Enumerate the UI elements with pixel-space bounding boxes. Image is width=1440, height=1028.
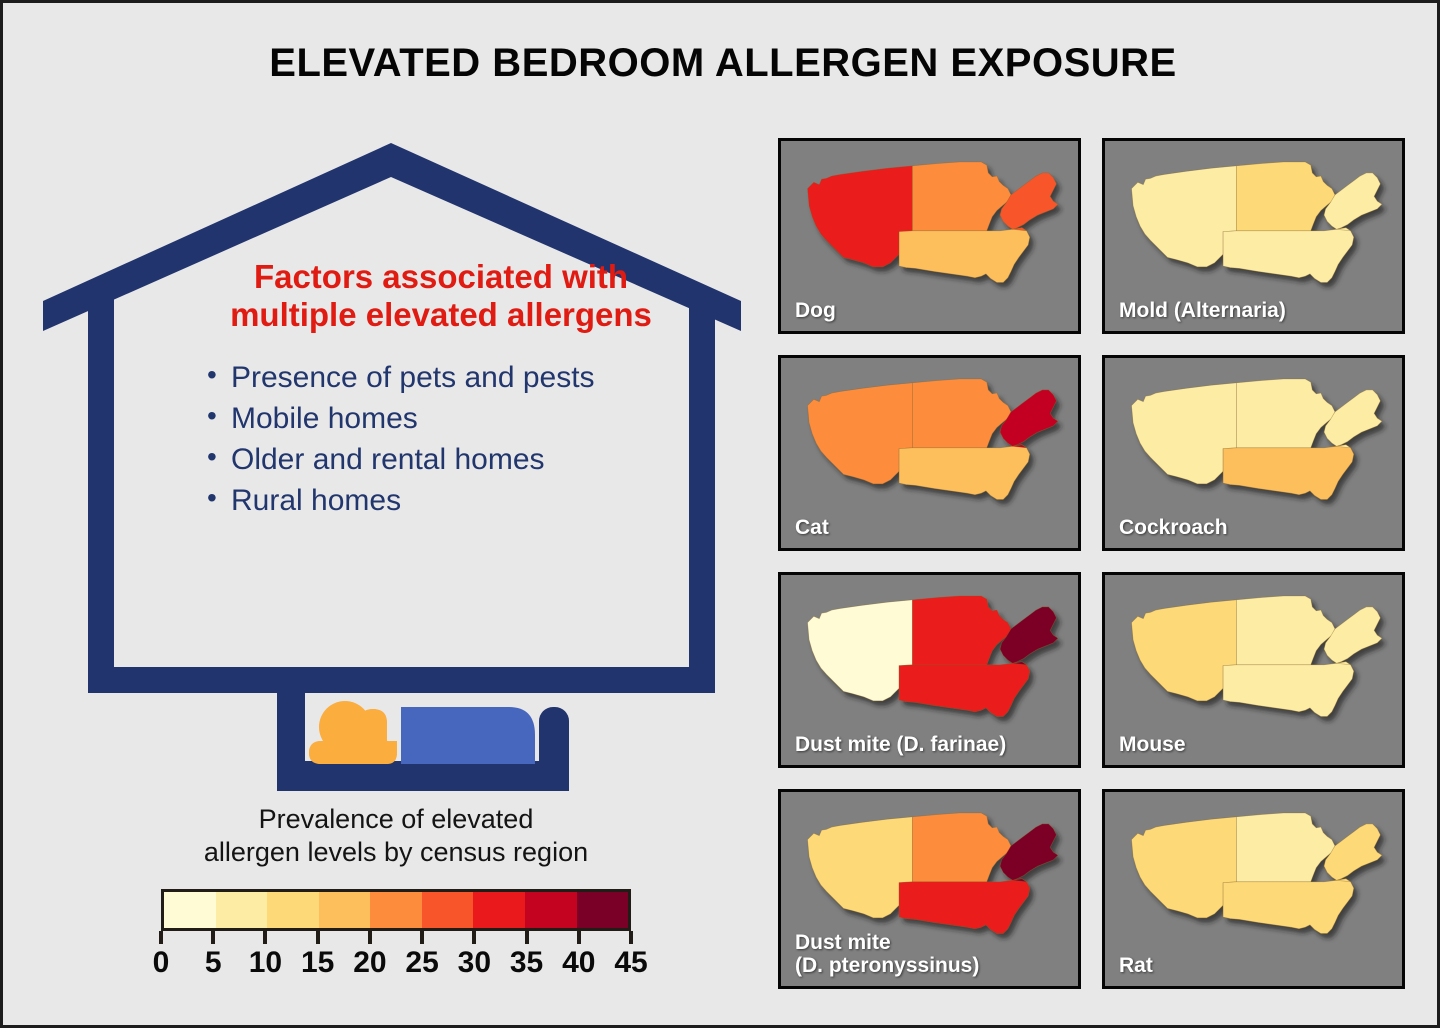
map-region-northeast: [1324, 824, 1382, 882]
legend-tick-label: 40: [562, 946, 595, 980]
map-region-midwest: [1236, 162, 1335, 231]
legend-swatch-2: [267, 892, 319, 928]
map-region-northeast: [1000, 173, 1058, 231]
map-panel: Mouse: [1102, 572, 1405, 768]
legend-caption-line2: allergen levels by census region: [111, 836, 681, 869]
legend-tick-label: 15: [301, 946, 334, 980]
map-panel-label: Dust mite (D. pteronyssinus): [795, 931, 979, 977]
map-region-west: [1131, 383, 1236, 484]
map-panel: Dust mite (D. pteronyssinus): [778, 789, 1081, 989]
legend-ticks: [161, 931, 631, 944]
map-region-south: [899, 228, 1030, 283]
map-region-northeast: [1000, 607, 1058, 665]
legend-swatch-1: [216, 892, 268, 928]
legend-tick: [211, 931, 215, 944]
legend-swatch-3: [319, 892, 371, 928]
legend-tick-label: 10: [249, 946, 282, 980]
map-region-northeast: [1324, 390, 1382, 448]
map-region-south: [1223, 879, 1354, 934]
map-panel-label: Dog: [795, 299, 836, 322]
factor-item: Rural homes: [207, 480, 701, 521]
legend-colorbar: [161, 889, 631, 931]
infographic-poster: ELEVATED BEDROOM ALLERGEN EXPOSURE Facto…: [0, 0, 1440, 1028]
legend-swatch-7: [525, 892, 577, 928]
map-region-midwest: [912, 379, 1011, 448]
map-region-west: [1131, 817, 1236, 918]
legend-swatch-0: [164, 892, 216, 928]
legend-caption: Prevalence of elevated allergen levels b…: [111, 803, 681, 869]
house-illustration: Factors associated with multiple elevate…: [41, 133, 761, 713]
legend-tick-label: 0: [153, 946, 170, 980]
map-region-west: [807, 383, 912, 484]
legend-tick-labels: 051015202530354045: [161, 946, 631, 984]
map-region-south: [899, 879, 1030, 934]
map-region-south: [899, 662, 1030, 717]
us-census-region-map: [795, 147, 1065, 299]
legend-tick: [525, 931, 529, 944]
map-region-midwest: [1236, 813, 1335, 882]
factor-item: Mobile homes: [207, 398, 701, 439]
map-panel: Dust mite (D. farinae): [778, 572, 1081, 768]
legend-tick: [159, 931, 163, 944]
map-region-south: [1223, 445, 1354, 500]
page-title: ELEVATED BEDROOM ALLERGEN EXPOSURE: [3, 41, 1440, 86]
legend-colorbar-wrap: 051015202530354045: [161, 889, 631, 984]
map-region-west: [807, 817, 912, 918]
map-panel-label: Mold (Alternaria): [1119, 299, 1286, 322]
map-region-northeast: [1324, 173, 1382, 231]
map-region-west: [807, 166, 912, 267]
legend-swatch-4: [370, 892, 422, 928]
map-panel-label: Mouse: [1119, 733, 1186, 756]
us-census-region-map: [1119, 581, 1389, 733]
map-region-midwest: [912, 813, 1011, 882]
map-region-midwest: [912, 596, 1011, 665]
map-region-south: [1223, 662, 1354, 717]
legend-tick: [316, 931, 320, 944]
legend-tick-label: 20: [353, 946, 386, 980]
factor-list: Presence of pets and pests Mobile homes …: [181, 357, 701, 521]
us-census-region-map: [1119, 147, 1389, 299]
us-census-region-map: [795, 364, 1065, 516]
factor-item: Presence of pets and pests: [207, 357, 701, 398]
map-region-northeast: [1000, 824, 1058, 882]
map-panel-label: Cockroach: [1119, 516, 1228, 539]
legend-tick-label: 35: [510, 946, 543, 980]
legend-swatch-5: [422, 892, 474, 928]
us-census-region-map: [795, 798, 1065, 950]
map-region-northeast: [1324, 607, 1382, 665]
legend-tick: [629, 931, 633, 944]
map-region-midwest: [1236, 596, 1335, 665]
us-census-region-map: [1119, 798, 1389, 950]
house-text-block: Factors associated with multiple elevate…: [181, 258, 701, 521]
house-heading: Factors associated with multiple elevate…: [181, 258, 701, 335]
legend-tick-label: 30: [458, 946, 491, 980]
map-panel: Cockroach: [1102, 355, 1405, 551]
us-census-region-map: [795, 581, 1065, 733]
legend-caption-line1: Prevalence of elevated: [111, 803, 681, 836]
map-region-midwest: [1236, 379, 1335, 448]
house-heading-line2: multiple elevated allergens: [181, 296, 701, 334]
legend-swatch-6: [473, 892, 525, 928]
legend-tick-label: 5: [205, 946, 222, 980]
legend-tick: [420, 931, 424, 944]
legend-tick-label: 25: [405, 946, 438, 980]
legend: Prevalence of elevated allergen levels b…: [111, 803, 681, 984]
map-region-west: [1131, 600, 1236, 701]
legend-tick-label: 45: [614, 946, 647, 980]
legend-tick: [263, 931, 267, 944]
legend-tick: [368, 931, 372, 944]
legend-tick: [472, 931, 476, 944]
legend-swatch-8: [577, 892, 629, 928]
us-census-region-map: [1119, 364, 1389, 516]
map-panel-grid: DogMold (Alternaria)CatCockroachDust mit…: [778, 138, 1410, 989]
map-region-west: [807, 600, 912, 701]
map-panel-label: Rat: [1119, 954, 1153, 977]
map-panel-label: Dust mite (D. farinae): [795, 733, 1006, 756]
map-panel: Mold (Alternaria): [1102, 138, 1405, 334]
map-region-west: [1131, 166, 1236, 267]
map-region-northeast: [1000, 390, 1058, 448]
legend-tick: [577, 931, 581, 944]
map-panel: Rat: [1102, 789, 1405, 989]
map-panel: Cat: [778, 355, 1081, 551]
map-region-midwest: [912, 162, 1011, 231]
house-heading-line1: Factors associated with: [181, 258, 701, 296]
factor-item: Older and rental homes: [207, 439, 701, 480]
map-panel-label: Cat: [795, 516, 829, 539]
map-region-south: [899, 445, 1030, 500]
bed-with-person-icon: [277, 665, 569, 805]
map-panel: Dog: [778, 138, 1081, 334]
map-region-south: [1223, 228, 1354, 283]
